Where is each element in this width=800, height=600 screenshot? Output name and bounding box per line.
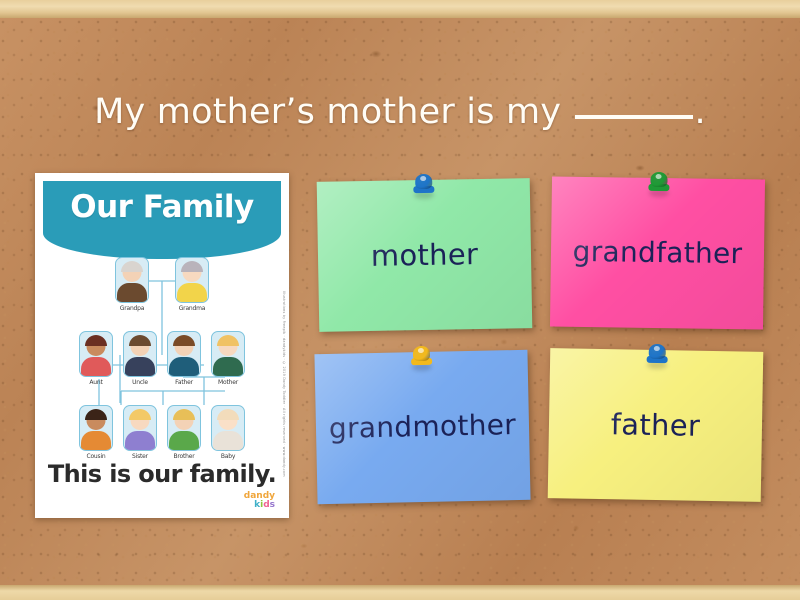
- green-pushpin-icon: [647, 172, 669, 198]
- answer-card-mother[interactable]: mother: [317, 178, 533, 332]
- family-member-portrait: [211, 405, 245, 451]
- family-member-portrait: [123, 405, 157, 451]
- answer-card-label: grandmother: [323, 411, 523, 443]
- family-member-portrait: [211, 331, 245, 377]
- family-member-portrait: [115, 257, 149, 303]
- family-member-label: Aunt: [77, 379, 115, 386]
- answer-card-father[interactable]: father: [548, 348, 764, 502]
- answer-card-label: mother: [365, 239, 485, 270]
- family-member-portrait: [123, 331, 157, 377]
- answer-card-label: father: [605, 410, 707, 441]
- family-tree-poster[interactable]: Our Family GrandpaGrandma AuntUncleF: [35, 173, 289, 518]
- family-member-label: Mother: [209, 379, 247, 386]
- family-member-label: Cousin: [77, 453, 115, 460]
- answer-card-grandmother[interactable]: grandmother: [314, 350, 530, 504]
- family-member-label: Sister: [121, 453, 159, 460]
- poster-side-credit: Illustrations by Freepik · dandykids · ©…: [282, 291, 286, 477]
- family-member-uncle: Uncle: [121, 331, 159, 386]
- family-member-baby: Baby: [209, 405, 247, 460]
- family-member-portrait: [79, 331, 113, 377]
- answer-card-label: grandfather: [566, 238, 748, 269]
- yellow-pushpin-icon: [410, 346, 433, 372]
- family-row-parents: AuntUncleFatherMother: [35, 331, 289, 386]
- family-member-cousin: Cousin: [77, 405, 115, 460]
- prompt-text-after-blank: .: [695, 92, 706, 132]
- logo-line-2: kids: [244, 501, 275, 510]
- family-row-children: CousinSisterBrotherBaby: [35, 405, 289, 460]
- family-member-label: Baby: [209, 453, 247, 460]
- poster-caption: This is our family.: [35, 460, 289, 488]
- question-prompt: My mother’s mother is my .: [0, 92, 800, 132]
- family-member-label: Father: [165, 379, 203, 386]
- dandy-kids-logo: dandy kids: [244, 492, 275, 510]
- poster-header-banner: Our Family: [43, 181, 281, 259]
- prompt-text-before-blank: My mother’s mother is my: [94, 92, 572, 132]
- family-member-portrait: [167, 331, 201, 377]
- family-member-brother: Brother: [165, 405, 203, 460]
- wooden-frame-bottom: [0, 585, 800, 600]
- family-member-portrait: [175, 257, 209, 303]
- family-member-label: Grandma: [173, 305, 211, 312]
- family-tree-diagram: GrandpaGrandma AuntUncleFatherMother Cou…: [35, 253, 289, 468]
- blue-pushpin-icon: [645, 344, 667, 370]
- family-member-label: Brother: [165, 453, 203, 460]
- poster-title: Our Family: [70, 189, 254, 225]
- family-member-grandpa: Grandpa: [113, 257, 151, 312]
- answer-blank-line: [575, 115, 693, 119]
- family-member-portrait: [167, 405, 201, 451]
- family-member-sister: Sister: [121, 405, 159, 460]
- family-member-grandma: Grandma: [173, 257, 211, 312]
- family-member-aunt: Aunt: [77, 331, 115, 386]
- family-row-grandparents: GrandpaGrandma: [35, 257, 289, 312]
- family-member-label: Grandpa: [113, 305, 151, 312]
- family-member-father: Father: [165, 331, 203, 386]
- answer-card-grandfather[interactable]: grandfather: [550, 177, 765, 330]
- family-member-mother: Mother: [209, 331, 247, 386]
- wooden-frame-top: [0, 0, 800, 18]
- family-member-portrait: [79, 405, 113, 451]
- blue-pushpin-icon: [412, 174, 434, 200]
- family-member-label: Uncle: [121, 379, 159, 386]
